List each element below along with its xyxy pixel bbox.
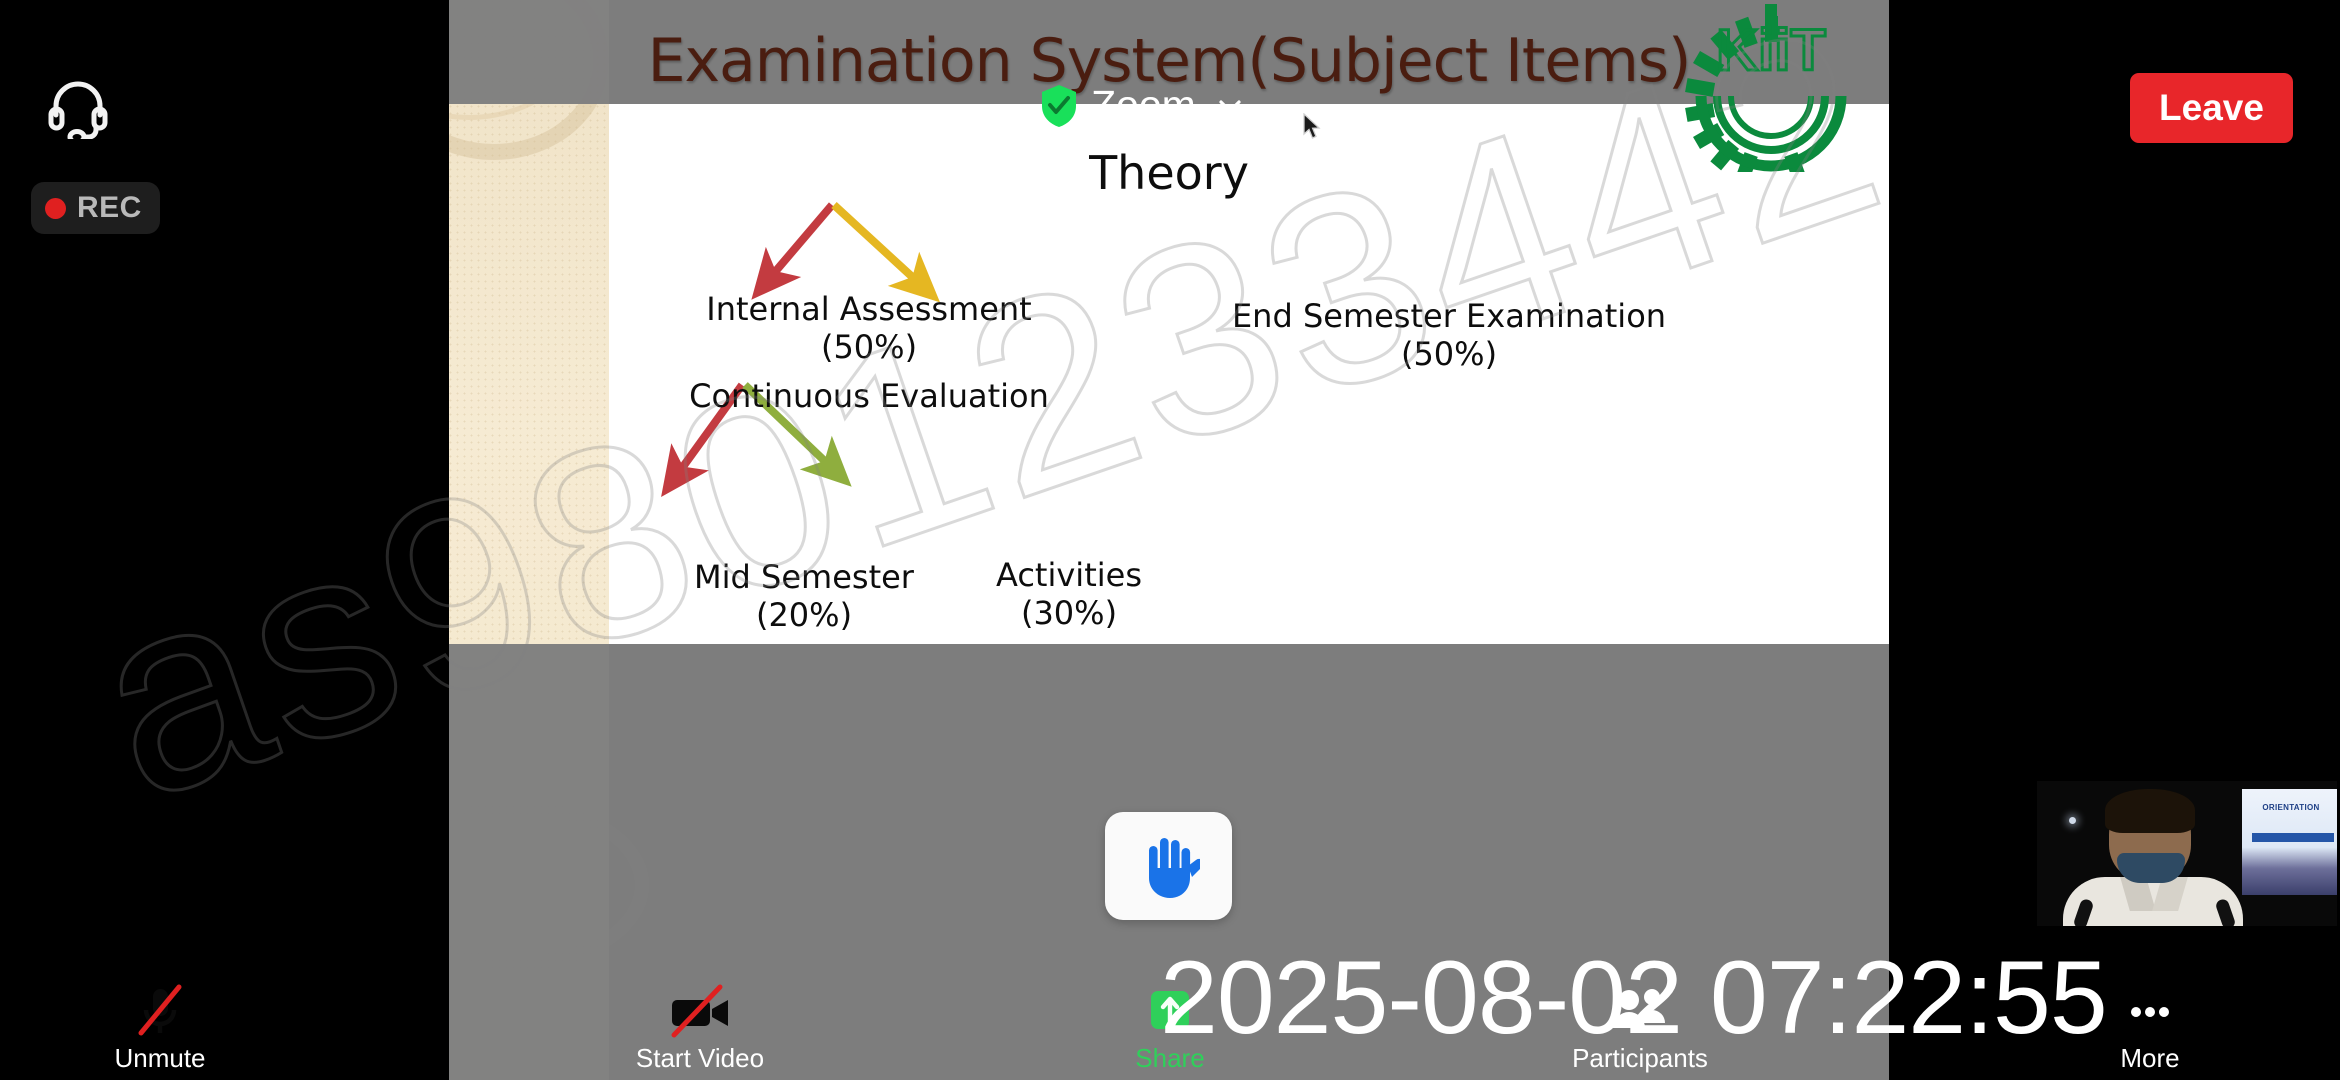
meeting-info-header[interactable]: Zoom <box>1040 82 1245 129</box>
diagram-node-activities: Activities (30%) <box>899 557 1239 633</box>
projection-banner <box>2252 833 2334 842</box>
diagram-node-continuous-evaluation: Continuous Evaluation <box>579 378 1159 416</box>
security-shield-icon[interactable] <box>1040 84 1078 128</box>
node-value: (50%) <box>1149 336 1749 374</box>
kiit-logo-icon: KiiT <box>1683 4 1859 172</box>
unmute-label: Unmute <box>65 1043 255 1074</box>
node-label: Internal Assessment <box>579 291 1159 329</box>
mouse-cursor-icon <box>1303 113 1323 141</box>
svg-text:KiiT: KiiT <box>1716 18 1826 83</box>
unmute-button[interactable]: Unmute <box>65 983 255 1074</box>
recording-dot-icon <box>45 198 66 219</box>
chevron-down-icon[interactable] <box>1215 91 1245 121</box>
node-value: (30%) <box>899 595 1239 633</box>
speaker-hair <box>2105 789 2195 833</box>
microphone-muted-icon <box>65 983 255 1041</box>
raised-hand-icon <box>1138 832 1200 900</box>
recording-label: REC <box>77 191 142 225</box>
node-label: End Semester Examination <box>1149 298 1749 336</box>
diagram-node-theory: Theory <box>449 146 1889 200</box>
camera-off-icon <box>605 983 795 1041</box>
diagram-node-end-semester-examination: End Semester Examination (50%) <box>1149 298 1749 374</box>
zoom-meeting-window: Theory Internal Assessment (50%) End Sem… <box>0 0 2340 1080</box>
start-video-button[interactable]: Start Video <box>605 983 795 1074</box>
node-label: Activities <box>899 557 1239 595</box>
raise-hand-button[interactable] <box>1105 812 1232 920</box>
projection-caption: ORIENTATION <box>2248 803 2334 812</box>
diagram-node-internal-assessment: Internal Assessment (50%) <box>579 291 1159 367</box>
zoom-label: Zoom <box>1091 82 1196 129</box>
light-spark <box>2069 817 2076 824</box>
recording-timestamp-overlay: 2025-08-02 07:22:55 <box>1160 939 2340 1058</box>
speaker-mask <box>2117 853 2185 883</box>
start-video-label: Start Video <box>605 1043 795 1074</box>
background-projection-screen: ORIENTATION <box>2242 789 2337 895</box>
self-video-thumbnail[interactable]: ORIENTATION <box>2037 781 2337 926</box>
headset-icon[interactable] <box>46 75 110 139</box>
exam-system-diagram: Theory Internal Assessment (50%) End Sem… <box>449 104 1889 644</box>
node-value: (50%) <box>579 329 1159 367</box>
leave-button[interactable]: Leave <box>2130 73 2293 143</box>
recording-badge: REC <box>31 182 160 234</box>
